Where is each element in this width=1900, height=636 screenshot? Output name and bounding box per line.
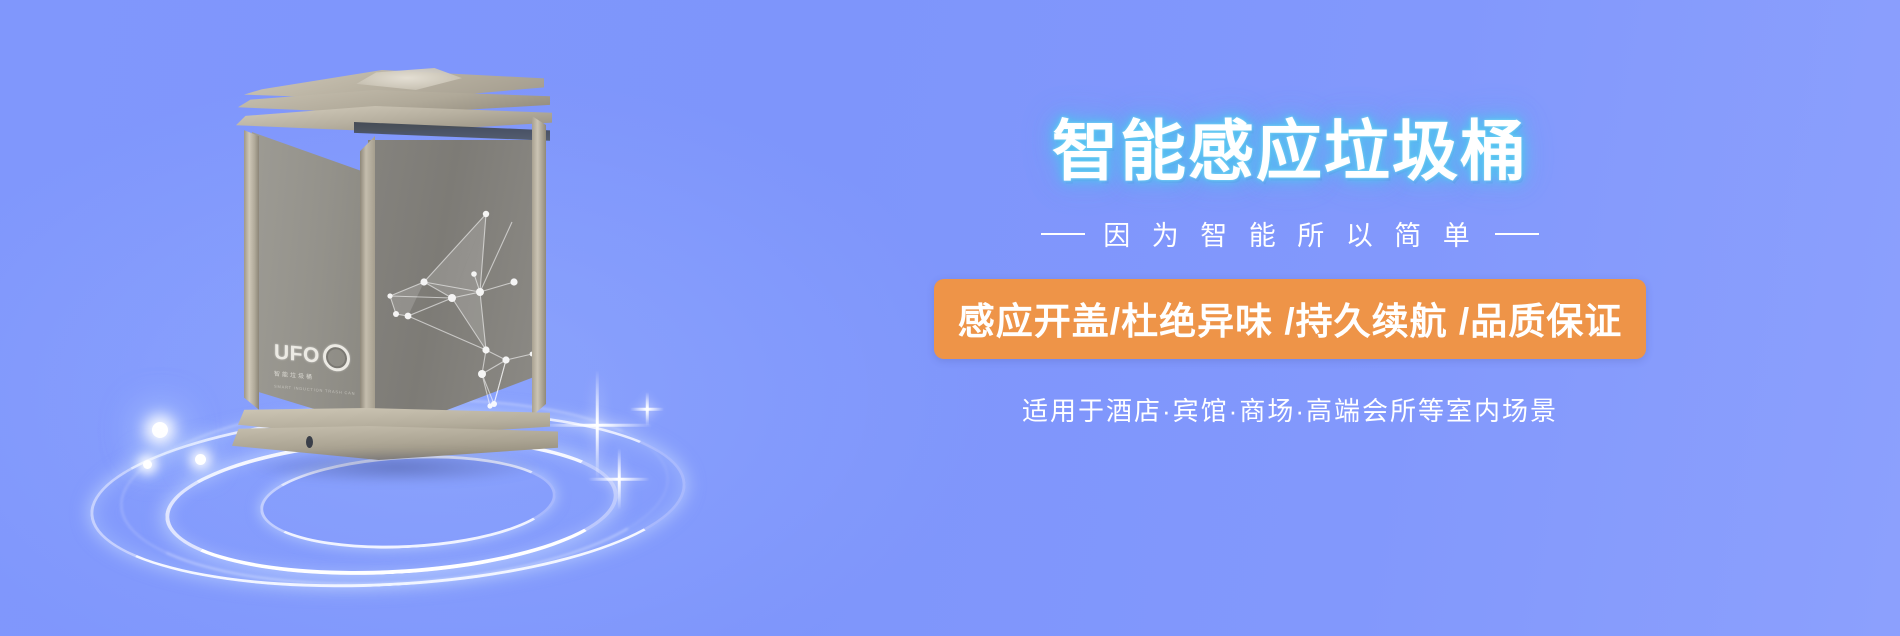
glow-dot-icon: [143, 460, 152, 469]
usage-scene-line: 适用于酒店·宾馆·商场·高端会所等室内场景: [880, 391, 1700, 428]
trash-bin-body: UFO 智能垃圾桶 SMART INDUCTION TRASH CAN: [232, 54, 562, 474]
rule-right-icon: [1495, 233, 1539, 235]
banner-subtitle: 因 为 智 能 所 以 简 单: [880, 214, 1700, 253]
product-promo-banner: UFO 智能垃圾桶 SMART INDUCTION TRASH CAN 智能感应…: [0, 0, 1900, 636]
banner-subtitle-text: 因 为 智 能 所 以 简 单: [1103, 214, 1477, 253]
sparkle-icon: [588, 448, 650, 510]
marketing-copy: 智能感应垃圾桶 因 为 智 能 所 以 简 单 感应开盖/杜绝异味 /持久续航 …: [880, 118, 1700, 428]
feature-badge: 感应开盖/杜绝异味 /持久续航 /品质保证: [934, 279, 1646, 359]
glow-dot-icon: [152, 422, 168, 438]
brand-logo-ring-icon: [323, 343, 350, 372]
rule-left-icon: [1041, 233, 1085, 235]
bin-base-vent: [306, 436, 313, 448]
bin-corner-post: [244, 124, 259, 428]
sparkle-icon: [630, 392, 664, 426]
bin-corner-post: [532, 116, 546, 416]
bin-corner-post: [360, 136, 375, 442]
glow-dot-icon: [195, 454, 206, 465]
feature-badge-wrap: 感应开盖/杜绝异味 /持久续航 /品质保证: [880, 279, 1700, 359]
product-illustration: UFO 智能垃圾桶 SMART INDUCTION TRASH CAN: [90, 40, 710, 600]
bin-drop-shadow: [250, 450, 542, 484]
banner-title: 智能感应垃圾桶: [880, 118, 1700, 184]
brand-logo: UFO 智能垃圾桶 SMART INDUCTION TRASH CAN: [274, 339, 350, 400]
polygon-network-graphic: [382, 204, 542, 419]
brand-logo-word: UFO: [274, 342, 320, 367]
